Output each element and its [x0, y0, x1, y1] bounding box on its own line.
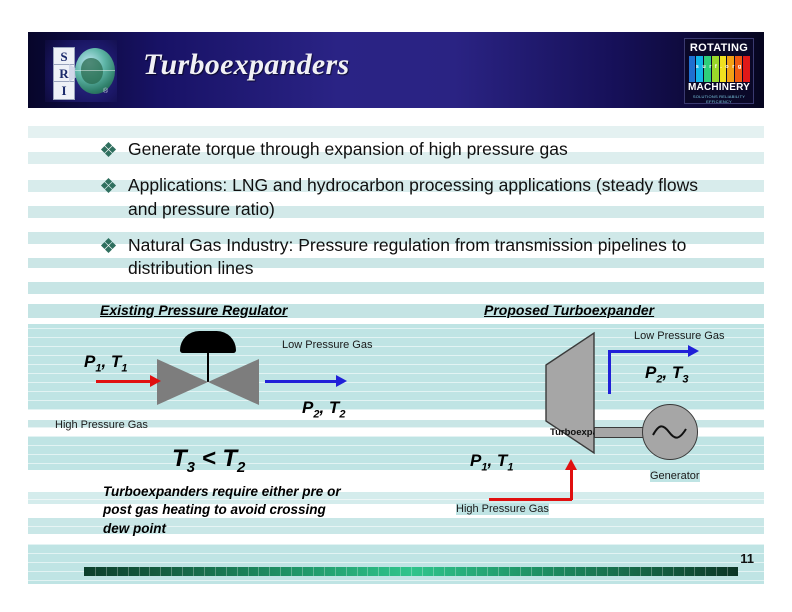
right-diagram-heading: Proposed Turboexpander — [484, 302, 654, 318]
left-inlet-label: High Pressure Gas — [55, 419, 148, 431]
high-pressure-arrowhead-left — [150, 375, 161, 387]
page-title: Turboexpanders — [143, 48, 349, 82]
diamond-bullet-icon — [102, 179, 115, 192]
dew-point-note: Turboexpanders require either pre or pos… — [103, 483, 351, 538]
bullet-text: Natural Gas Industry: Pressure regulatio… — [128, 235, 686, 278]
rotating-machinery-logo: ROTATING s u r f . o r g MACHINERY SOLUT… — [684, 38, 754, 104]
rm-logo-tagline: SOLUTIONS RELIABILITY EFFICIENCY — [685, 94, 753, 104]
rm-logo-line2: MACHINERY — [685, 82, 753, 93]
right-outlet-state: P2, T3 — [645, 363, 688, 385]
ac-wave-icon — [652, 423, 688, 441]
generator-label: Generator — [650, 470, 700, 482]
rm-logo-line1: ROTATING — [685, 42, 753, 54]
high-pressure-arrowhead-right — [565, 459, 577, 470]
right-inlet-state: P1, T1 — [470, 451, 513, 473]
globe-icon — [75, 48, 115, 94]
right-outlet-label: Low Pressure Gas — [634, 330, 724, 342]
left-outlet-label: Low Pressure Gas — [282, 339, 372, 351]
low-pressure-arrow-right-h — [608, 350, 690, 353]
low-pressure-arrowhead-left — [336, 375, 347, 387]
diamond-bullet-icon — [102, 143, 115, 156]
bullet-list: Generate torque through expansion of hig… — [98, 138, 718, 293]
slide-canvas: S R I ® Turboexpanders ROTATING s u r f … — [0, 0, 792, 612]
left-diagram-heading: Existing Pressure Regulator — [100, 302, 288, 318]
temperature-relation: T3 < T2 — [172, 445, 245, 476]
high-pressure-arrow-right-h — [489, 498, 572, 501]
list-item: Natural Gas Industry: Pressure regulatio… — [98, 234, 718, 281]
bullet-text: Applications: LNG and hydrocarbon proces… — [128, 175, 698, 218]
generator-icon — [642, 404, 698, 460]
slide-header-bar — [28, 32, 764, 108]
right-inlet-label: High Pressure Gas — [456, 503, 549, 515]
valve-body-left — [157, 359, 208, 405]
sri-logo: S R I ® — [45, 40, 117, 102]
low-pressure-arrow-left — [265, 380, 338, 383]
footer-accent-bar — [84, 567, 738, 576]
rm-logo-middle: s u r f . o r g — [685, 64, 753, 70]
left-inlet-state: P1, T1 — [84, 352, 127, 374]
low-pressure-arrowhead-right — [688, 345, 699, 357]
valve-body-right — [208, 359, 259, 405]
list-item: Generate torque through expansion of hig… — [98, 138, 718, 161]
bullet-text: Generate torque through expansion of hig… — [128, 139, 568, 159]
high-pressure-arrow-right-v — [570, 470, 573, 500]
high-pressure-arrow-left — [96, 380, 152, 383]
drive-shaft — [594, 427, 646, 438]
list-item: Applications: LNG and hydrocarbon proces… — [98, 174, 718, 221]
registered-mark: ® — [103, 88, 108, 95]
sri-letter-i: I — [53, 81, 75, 100]
left-outlet-state: P2, T2 — [302, 398, 345, 420]
page-number: 11 — [740, 551, 754, 566]
diamond-bullet-icon — [102, 239, 115, 252]
low-pressure-arrow-right-v — [608, 350, 611, 394]
